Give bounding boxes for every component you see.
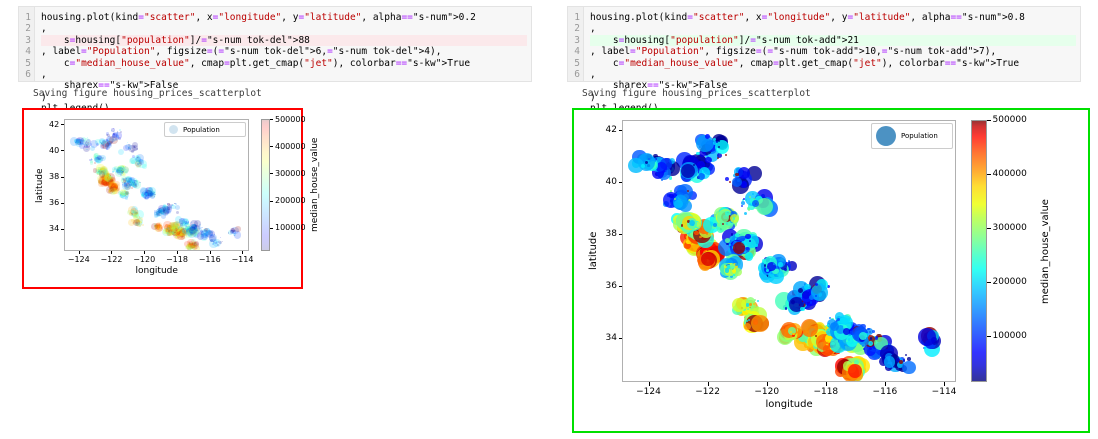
code-line: housing.plot(kind="scatter", x="longitud…: [41, 12, 527, 23]
line-number: 1: [568, 12, 580, 23]
scatter-point: [792, 333, 794, 335]
x-tick-mark: [79, 251, 80, 254]
code-line: c="median_house_value", cmap=plt.get_cma…: [41, 58, 527, 69]
scatter-point: [689, 220, 695, 226]
scatter-point: [716, 141, 718, 143]
x-tick-label: −114: [932, 387, 957, 397]
scatter-point: [161, 212, 162, 213]
scatter-point: [205, 235, 207, 237]
scatter-point: [743, 198, 745, 200]
scatter-point: [905, 354, 907, 356]
scatter-point: [213, 243, 214, 244]
line-number: 3: [19, 35, 31, 46]
code-gutter: 123456: [19, 7, 35, 81]
legend-population-marker: [169, 125, 178, 134]
scatter-point: [648, 158, 650, 160]
scatter-point: [176, 235, 177, 236]
y-tick-label: 42: [606, 125, 617, 135]
colorbar-tick-mark: [270, 146, 273, 147]
scatter-point: [848, 364, 862, 378]
code-body[interactable]: housing.plot(kind="scatter", x="longitud…: [35, 7, 531, 81]
colorbar-tick-label: 500000: [993, 115, 1027, 125]
line-number: 2: [19, 23, 31, 34]
scatter-point: [907, 357, 911, 361]
colorbar-tick-mark: [270, 119, 273, 120]
scatter-point: [142, 224, 144, 226]
x-tick-mark: [767, 382, 768, 386]
y-tick-mark: [619, 338, 623, 339]
scatter-point: [137, 157, 138, 158]
scatter-point: [735, 173, 738, 176]
scatter-point: [724, 265, 727, 268]
scatter-point: [114, 166, 117, 169]
scatter-point: [752, 200, 759, 207]
colorbar-label: median_house_value: [310, 138, 320, 232]
code-cell-before[interactable]: 123456 housing.plot(kind="scatter", x="l…: [18, 6, 532, 82]
scatter-point: [176, 211, 179, 214]
scatter-point: [784, 268, 787, 271]
scatter-point: [128, 145, 136, 153]
scatter-point: [122, 165, 125, 168]
scatter-point: [754, 299, 756, 301]
scatter-point: [126, 176, 132, 182]
line-number: 5: [19, 58, 31, 69]
scatter-point: [198, 226, 201, 229]
scatter-point: [641, 164, 645, 168]
y-axis-label: latitude: [588, 232, 599, 270]
x-tick-mark: [177, 251, 178, 254]
y-tick-label: 36: [606, 281, 617, 291]
x-tick-mark: [242, 251, 243, 254]
colorbar-tick-label: 400000: [275, 142, 306, 151]
x-tick-label: −120: [133, 255, 155, 264]
scatter-point: [733, 274, 735, 276]
legend-label: Population: [183, 126, 220, 134]
scatter-point: [705, 134, 710, 139]
scatter-point: [843, 328, 850, 335]
colorbar-tick-mark: [987, 282, 991, 283]
x-tick-label: −116: [873, 387, 898, 397]
scatter-point: [161, 227, 162, 228]
scatter-point: [687, 190, 689, 192]
scatter-point: [745, 234, 751, 240]
scatter-point: [99, 170, 101, 172]
line-number: 4: [19, 46, 31, 57]
scatter-point: [718, 146, 720, 148]
x-axis-label: longitude: [136, 266, 178, 276]
colorbar-tick-label: 400000: [993, 169, 1027, 179]
scatter-point: [136, 148, 137, 149]
y-tick-mark: [61, 150, 64, 151]
colorbar-gradient: [972, 121, 986, 381]
scatter-point: [669, 194, 673, 198]
y-tick-mark: [619, 130, 623, 131]
legend[interactable]: Population: [871, 123, 953, 149]
x-tick-label: −124: [68, 255, 90, 264]
x-tick-label: −116: [199, 255, 221, 264]
scatter-point: [785, 307, 787, 309]
scatter-point: [681, 224, 684, 227]
scatter-point: [145, 193, 147, 195]
cell-output-text: Saving figure housing_prices_scatterplot: [582, 88, 811, 99]
scatter-point: [90, 160, 93, 163]
legend-label: Population: [901, 132, 938, 140]
scatter-point: [235, 226, 240, 231]
x-tick-label: −120: [754, 387, 779, 397]
scatter-point: [117, 132, 118, 133]
y-tick-label: 34: [606, 333, 617, 343]
scatter-point: [90, 146, 95, 151]
x-tick-mark: [944, 382, 945, 386]
x-tick-label: −122: [100, 255, 122, 264]
colorbar-tick-label: 500000: [275, 115, 306, 124]
scatter-point: [219, 241, 222, 244]
x-tick-mark: [826, 382, 827, 386]
x-tick-mark: [210, 251, 211, 254]
scatter-point: [875, 336, 878, 339]
y-tick-label: 38: [49, 172, 59, 181]
scatter-point: [798, 288, 803, 293]
scatter-point: [101, 170, 106, 175]
scatter-point: [681, 164, 695, 178]
colorbar-gradient: [262, 120, 269, 250]
scatter-point: [757, 300, 759, 302]
scatter-point: [918, 328, 936, 346]
scatter-point: [800, 307, 804, 311]
colorbar-tick-mark: [987, 120, 991, 121]
scatter-point: [725, 154, 728, 157]
scatter-point: [96, 155, 98, 157]
scatter-point: [123, 145, 129, 151]
y-tick-label: 40: [606, 177, 617, 187]
colorbar-tick-mark: [987, 228, 991, 229]
scatter-point: [741, 205, 743, 207]
pane-before: 123456 housing.plot(kind="scatter", x="l…: [0, 0, 549, 439]
y-tick-label: 36: [49, 198, 59, 207]
scatter-point: [732, 298, 745, 311]
scatter-point: [169, 230, 170, 231]
scatter-point: [748, 208, 751, 211]
scatter-point: [167, 232, 169, 234]
scatter-point: [220, 237, 221, 238]
figure-frame-after: −124−122−120−118−116−1143436384042longit…: [572, 108, 1090, 433]
scatter-point: [133, 212, 134, 213]
scatter-point: [175, 236, 176, 237]
colorbar: [261, 119, 270, 251]
y-tick-mark: [619, 286, 623, 287]
scatter-point: [181, 235, 183, 237]
scatter-point: [741, 181, 747, 187]
y-tick-mark: [61, 203, 64, 204]
x-tick-mark: [111, 251, 112, 254]
y-tick-label: 40: [49, 146, 59, 155]
scatter-point: [733, 217, 736, 220]
colorbar-tick-mark: [270, 228, 273, 229]
scatter-point: [729, 181, 731, 183]
scatter-point: [222, 241, 223, 242]
scatter-point: [233, 230, 235, 232]
y-tick-mark: [619, 234, 623, 235]
scatter-point: [713, 138, 716, 141]
scatter-point: [717, 223, 721, 227]
scatter-point: [722, 223, 724, 225]
scatter-point: [77, 141, 80, 144]
pane-after: 123456 housing.plot(kind="scatter", x="l…: [549, 0, 1098, 439]
scatter-point: [766, 269, 768, 271]
y-tick-label: 38: [606, 229, 617, 239]
y-tick-label: 42: [49, 120, 59, 129]
scatter-point: [815, 295, 817, 297]
line-number: 6: [19, 69, 31, 80]
code-cell-after[interactable]: 123456 housing.plot(kind="scatter", x="l…: [567, 6, 1081, 82]
scatter-point: [698, 173, 705, 180]
scatter-point: [150, 193, 155, 198]
scatter-point: [899, 360, 903, 364]
y-tick-mark: [619, 182, 623, 183]
plot-axes: [622, 120, 956, 382]
scatter-point: [231, 230, 232, 231]
line-number: 4: [568, 46, 580, 57]
code-line: housing.plot(kind="scatter", x="longitud…: [590, 12, 1076, 23]
colorbar-tick-label: 300000: [275, 169, 306, 178]
scatter-point: [749, 196, 751, 198]
scatter-point: [745, 252, 754, 261]
scatter-point: [174, 203, 175, 204]
scatter-point: [815, 283, 818, 286]
colorbar-tick-label: 100000: [993, 331, 1027, 341]
plot-axes: [64, 119, 249, 251]
colorbar-tick-label: 200000: [275, 196, 306, 205]
colorbar-label: median_house_value: [1040, 199, 1051, 304]
colorbar-tick-mark: [270, 201, 273, 202]
scatter-point: [730, 264, 735, 269]
x-tick-label: −124: [636, 387, 661, 397]
scatter-point: [823, 345, 830, 352]
code-line: s=housing["population"]/="s-num tok-del"…: [41, 35, 527, 46]
line-number: 3: [568, 35, 580, 46]
x-tick-label: −122: [695, 387, 720, 397]
legend-population-marker: [876, 126, 896, 146]
scatter-point: [859, 332, 867, 340]
scatter-point: [872, 330, 875, 333]
scatter-point: [91, 158, 92, 159]
scatter-point: [125, 196, 128, 199]
x-tick-mark: [649, 382, 650, 386]
colorbar-tick-mark: [270, 173, 273, 174]
legend[interactable]: Population: [164, 122, 246, 137]
x-tick-label: −118: [813, 387, 838, 397]
scatter-point: [884, 356, 896, 368]
scatter-point: [127, 142, 128, 143]
scatter-point: [131, 187, 133, 189]
cell-output-text: Saving figure housing_prices_scatterplot: [33, 88, 262, 99]
line-number: 1: [19, 12, 31, 23]
colorbar-tick-mark: [987, 336, 991, 337]
scatter-point: [86, 149, 87, 150]
y-tick-mark: [61, 229, 64, 230]
y-tick-mark: [61, 177, 64, 178]
colorbar-tick-label: 100000: [275, 223, 306, 232]
scatter-point: [744, 212, 747, 215]
scatter-point: [133, 219, 140, 226]
scatter-point: [870, 337, 873, 340]
scatter-point: [107, 177, 108, 178]
scatter-point: [139, 159, 144, 164]
scatter-point: [125, 191, 129, 195]
colorbar-tick-mark: [987, 174, 991, 175]
scatter-point: [665, 170, 667, 172]
scatter-point: [733, 242, 745, 254]
y-tick-label: 34: [49, 224, 59, 233]
x-tick-mark: [708, 382, 709, 386]
x-tick-label: −118: [166, 255, 188, 264]
scatter-point: [193, 246, 196, 249]
x-tick-label: −114: [231, 255, 253, 264]
scatter-point: [902, 361, 915, 374]
code-gutter: 123456: [568, 7, 584, 81]
scatter-point: [113, 133, 116, 136]
y-axis-label: latitude: [35, 168, 45, 203]
code-line: c="median_house_value", cmap=plt.get_cma…: [590, 58, 1076, 69]
line-number: 5: [568, 58, 580, 69]
comparison-panes: 123456 housing.plot(kind="scatter", x="l…: [0, 0, 1098, 439]
scatter-point: [209, 234, 217, 242]
scatter-point: [778, 262, 783, 267]
y-tick-mark: [61, 124, 64, 125]
x-tick-mark: [885, 382, 886, 386]
scatter-point: [130, 182, 131, 183]
code-body[interactable]: housing.plot(kind="scatter", x="longitud…: [584, 7, 1080, 81]
line-number: 2: [568, 23, 580, 34]
scatter-point: [131, 213, 132, 214]
scatter-point: [161, 213, 167, 219]
line-number: 6: [568, 69, 580, 80]
code-line: s=housing["population"]/="s-num tok-add"…: [590, 35, 1076, 46]
scatter-point: [717, 153, 722, 158]
colorbar: [971, 120, 987, 382]
scatter-point: [128, 144, 130, 146]
x-axis-label: longitude: [766, 399, 813, 410]
colorbar-tick-label: 300000: [993, 223, 1027, 233]
scatter-point: [134, 186, 135, 187]
x-tick-mark: [144, 251, 145, 254]
figure-frame-before: −124−122−120−118−116−1143436384042longit…: [22, 108, 303, 289]
scatter-point: [661, 179, 663, 181]
colorbar-tick-label: 200000: [993, 277, 1027, 287]
